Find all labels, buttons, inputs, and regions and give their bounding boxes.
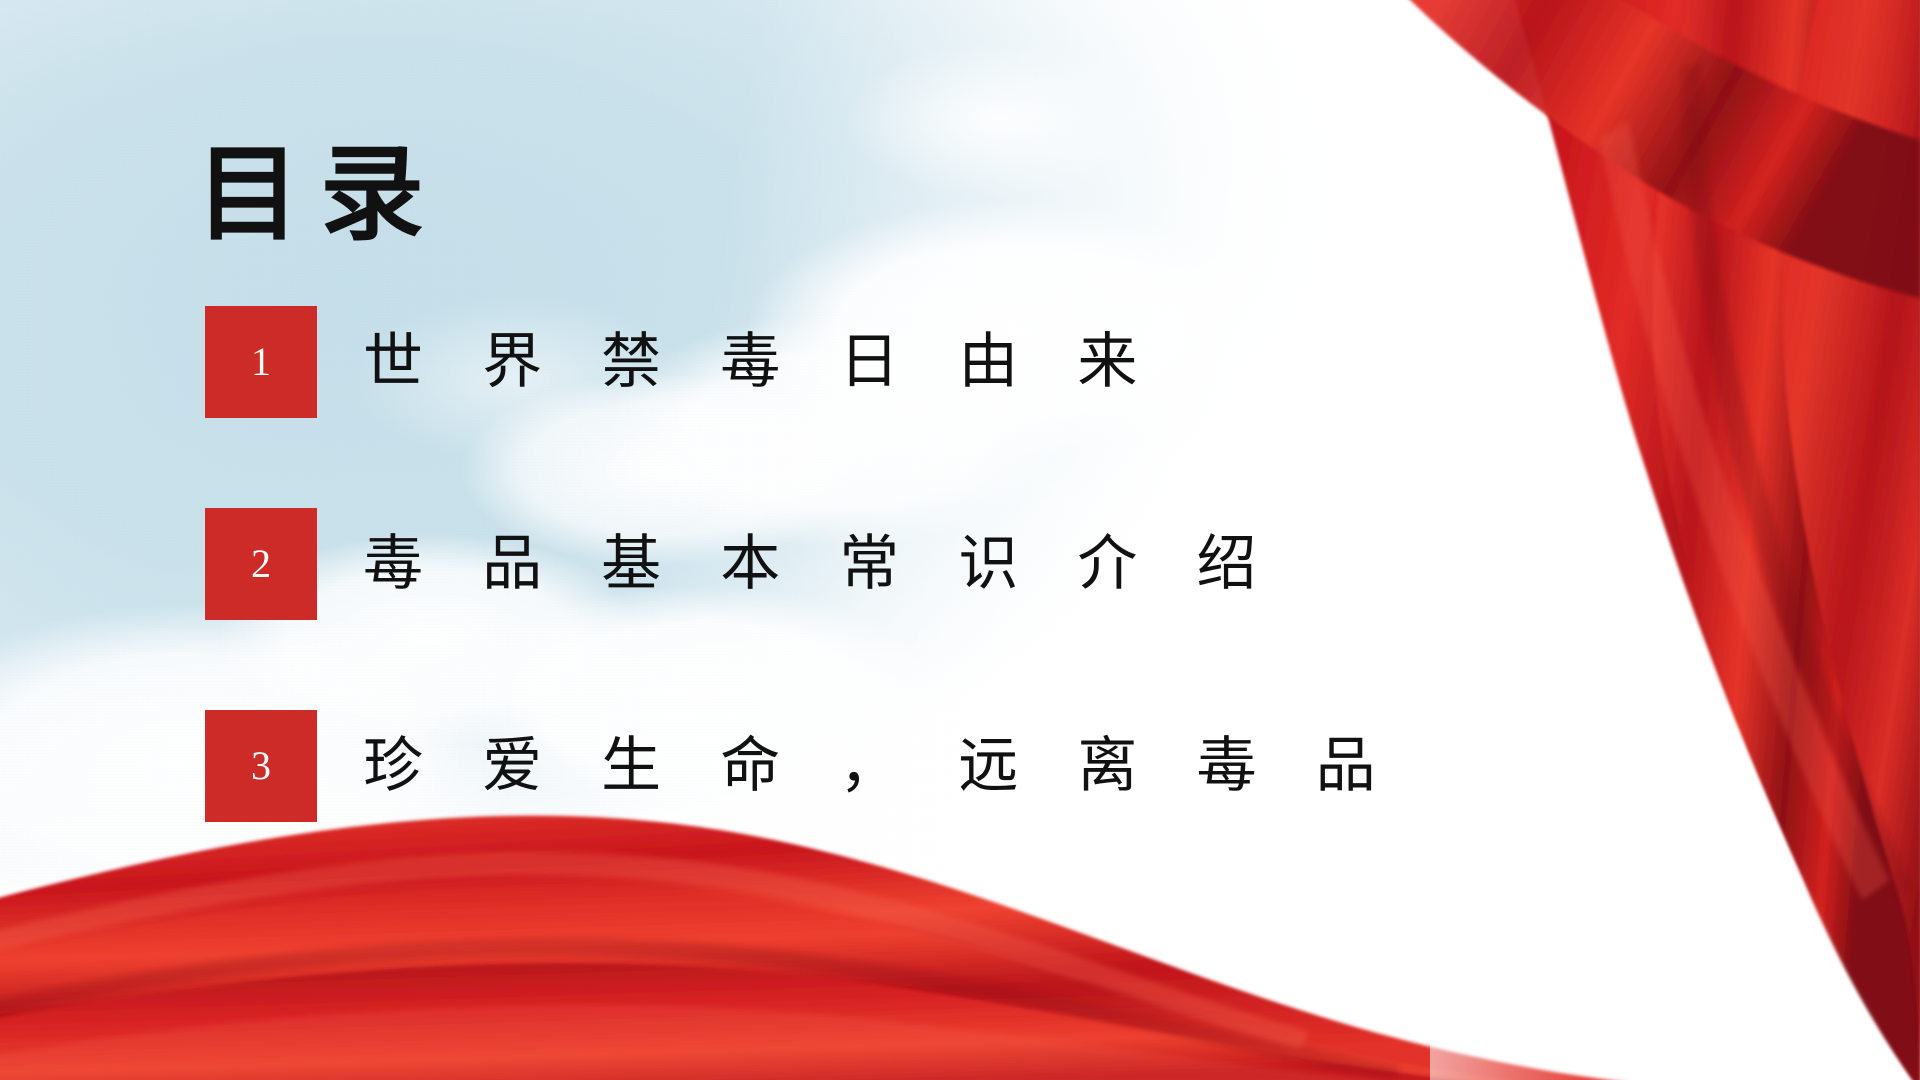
page-title: 目录 xyxy=(196,142,444,246)
toc-number-1: 1 xyxy=(251,342,271,382)
toc-label-2: 毒 品 基 本 常 识 介 绍 xyxy=(363,534,1277,594)
toc-item-3[interactable]: 3 珍 爱 生 命 ， 远 离 毒 品 xyxy=(205,710,1396,822)
toc-item-2[interactable]: 2 毒 品 基 本 常 识 介 绍 xyxy=(205,508,1277,620)
toc-number-badge-2: 2 xyxy=(205,508,317,620)
toc-number-badge-1: 1 xyxy=(205,306,317,418)
slide-content: 目录 1 世 界 禁 毒 日 由 来 2 毒 品 基 本 常 识 介 绍 3 珍… xyxy=(0,0,1920,1080)
presentation-slide: 目录 1 世 界 禁 毒 日 由 来 2 毒 品 基 本 常 识 介 绍 3 珍… xyxy=(0,0,1920,1080)
toc-number-2: 2 xyxy=(251,544,271,584)
toc-label-3: 珍 爱 生 命 ， 远 离 毒 品 xyxy=(363,736,1396,796)
toc-item-1[interactable]: 1 世 界 禁 毒 日 由 来 xyxy=(205,306,1157,418)
toc-number-badge-3: 3 xyxy=(205,710,317,822)
toc-label-1: 世 界 禁 毒 日 由 来 xyxy=(363,332,1157,392)
toc-number-3: 3 xyxy=(251,746,271,786)
